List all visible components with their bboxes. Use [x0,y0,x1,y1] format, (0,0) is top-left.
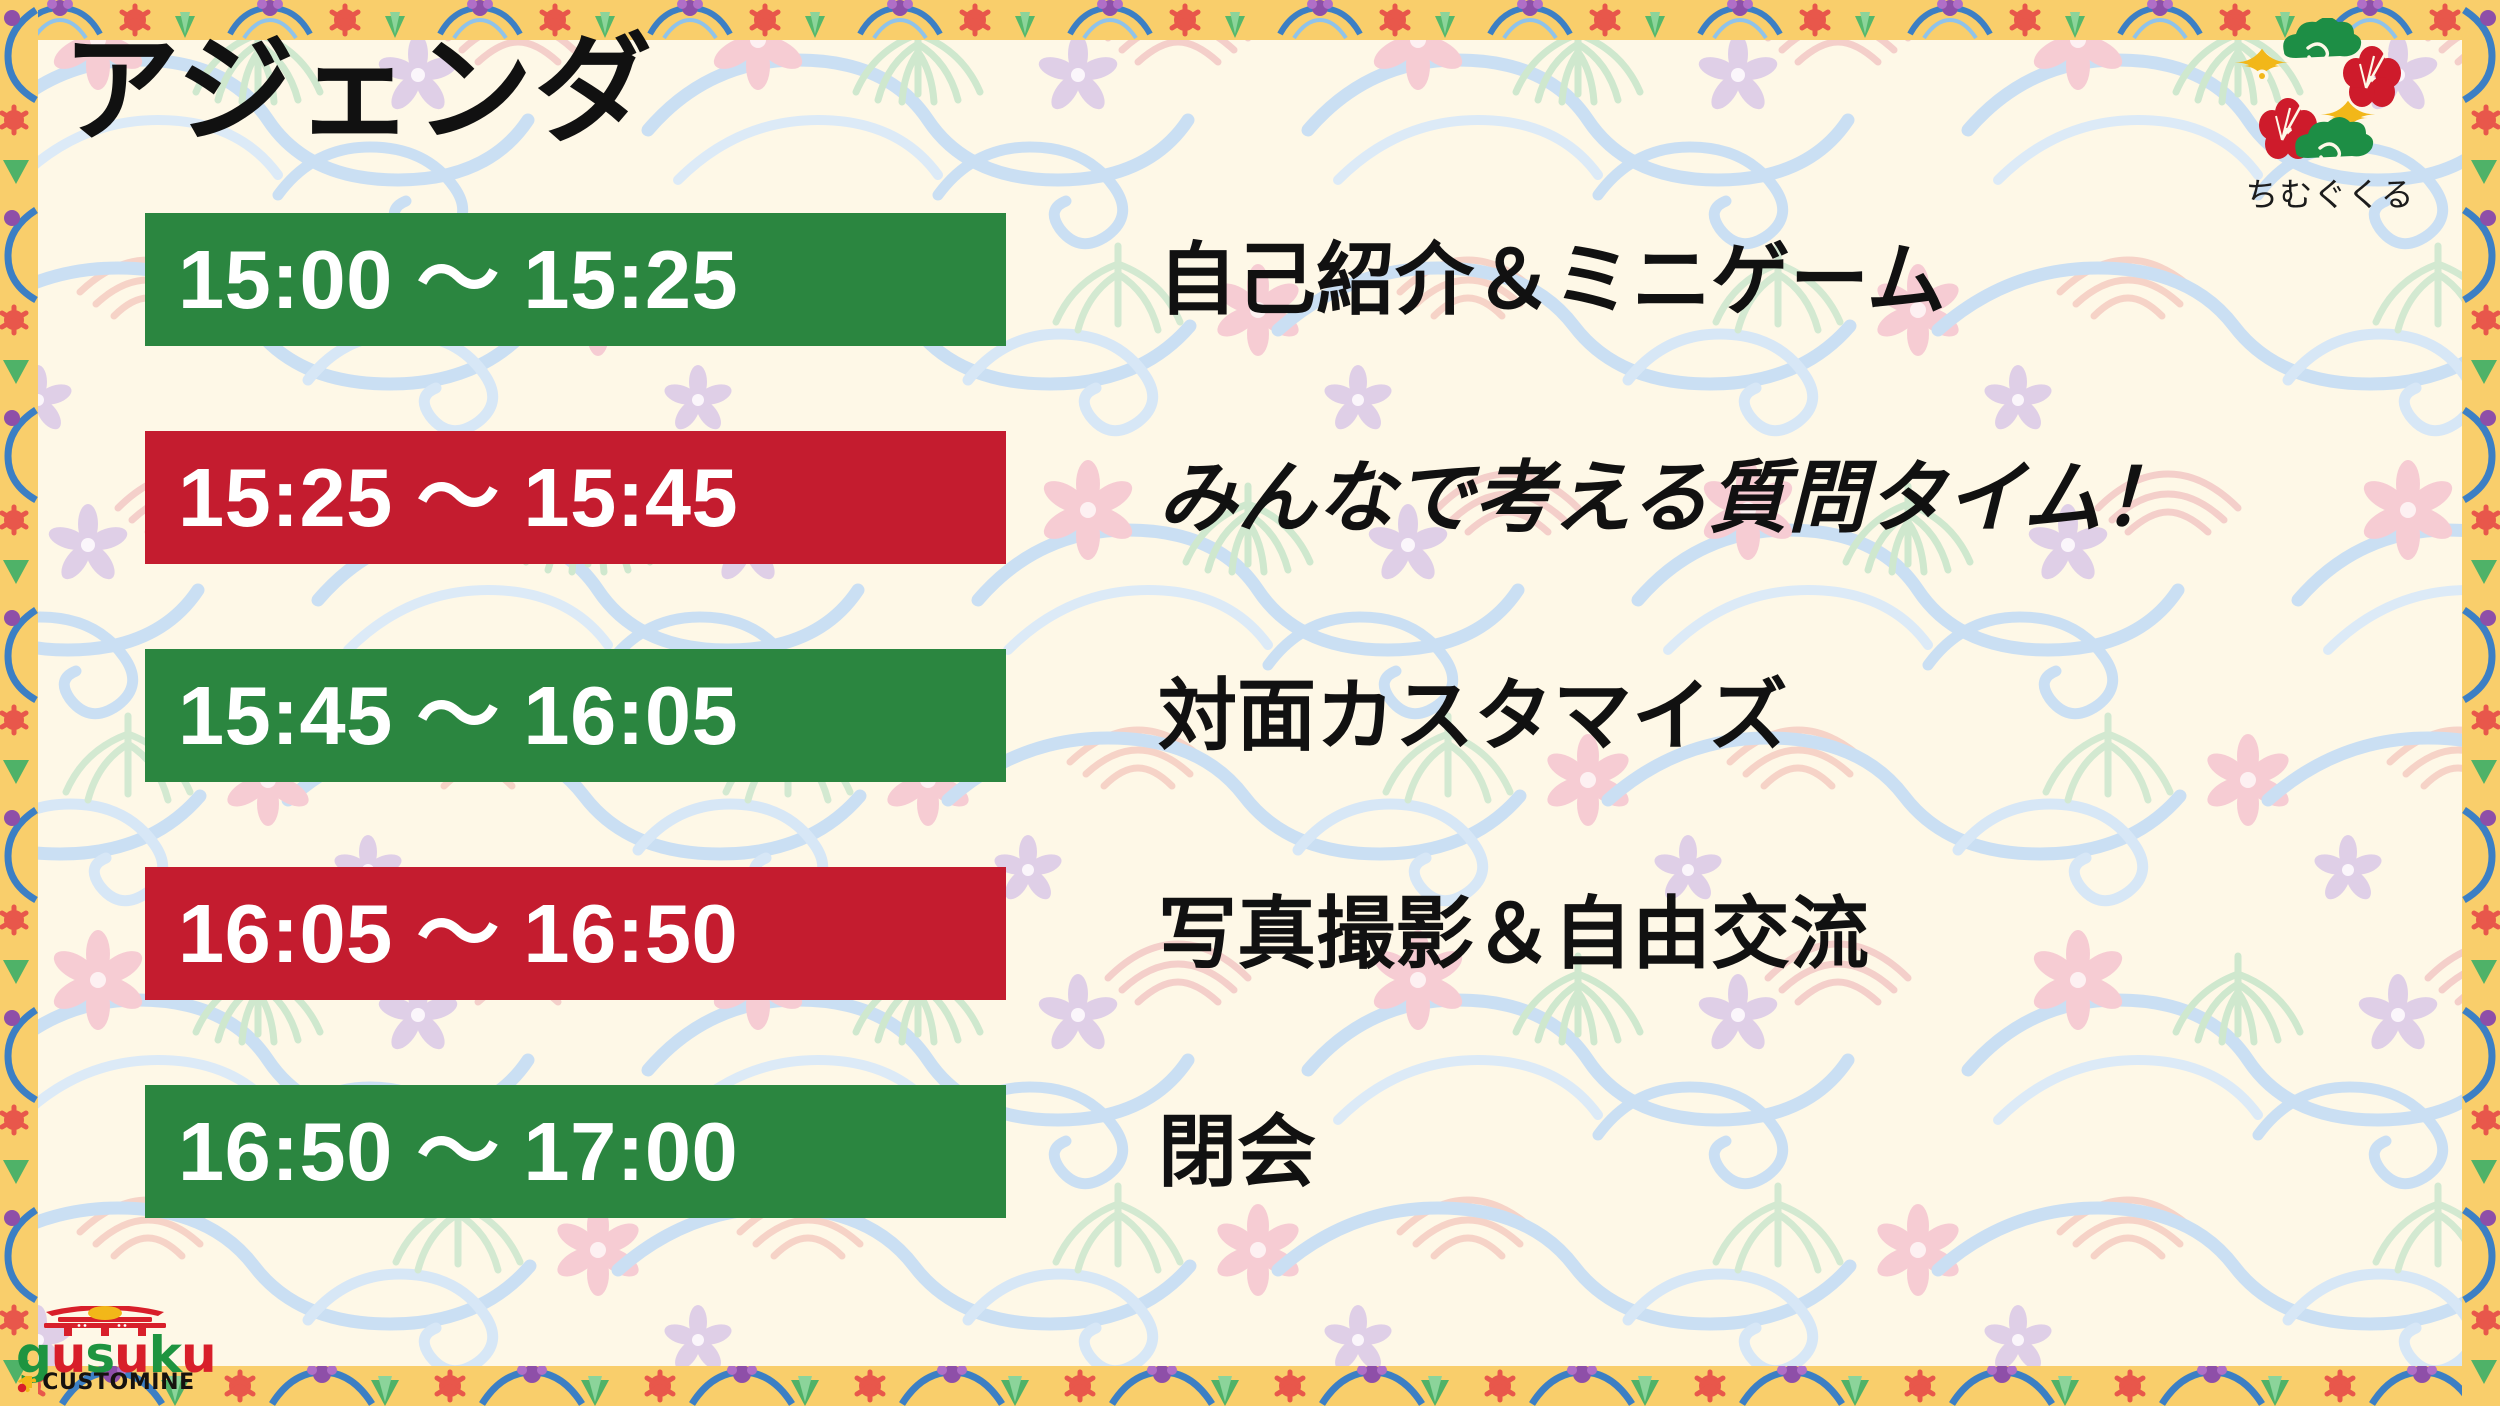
agenda-row: 16:50 ～ 17:00 閉会 [0,1085,2500,1303]
agenda-list: 15:00 ～ 15:25 自己紹介＆ミニゲーム 15:25 ～ 15:45 み… [0,213,2500,1303]
agenda-row: 15:00 ～ 15:25 自己紹介＆ミニゲーム [0,213,2500,431]
green-cloud-icon [2283,18,2361,61]
agenda-slide: アジェンダ 15:00 ～ 15:25 自己紹介＆ミニゲーム 15:25 ～ 1… [0,0,2500,1406]
time-chip: 16:50 ～ 17:00 [145,1085,1006,1218]
agenda-item-description: 自己紹介＆ミニゲーム [1158,213,1946,346]
time-range-label: 16:05 ～ 16:50 [178,892,738,975]
time-range-label: 15:25 ～ 15:45 [178,456,738,539]
agenda-row: 16:05 ～ 16:50 写真撮影＆自由交流 [0,867,2500,1085]
customine-label: CUSTOMINE [42,1372,194,1394]
page-title: アジェンダ [62,22,653,161]
puzzle-piece-icon [17,1373,37,1393]
red-hibiscus-icon [2343,46,2401,107]
agenda-item-description: 対面カスタマイズ [1158,649,1788,782]
gusuku-customine-logo: gusuku CUSTOMINE [16,1306,196,1398]
agenda-item-description: 閉会 [1158,1085,1316,1218]
chimugukuru-logo: ちむぐくる [2232,18,2428,228]
agenda-item-description: 写真撮影＆自由交流 [1158,867,1869,1000]
chimugukuru-wordmark: ちむぐくる [2232,168,2428,216]
agenda-row: 15:25 ～ 15:45 みんなで考える質問タイム！ [0,431,2500,649]
time-range-label: 15:45 ～ 16:05 [178,674,738,757]
time-chip: 15:45 ～ 16:05 [145,649,1006,782]
time-range-label: 15:00 ～ 15:25 [178,238,738,321]
agenda-row: 15:45 ～ 16:05 対面カスタマイズ [0,649,2500,867]
time-chip: 15:25 ～ 15:45 [145,431,1006,564]
slide-content: アジェンダ 15:00 ～ 15:25 自己紹介＆ミニゲーム 15:25 ～ 1… [0,0,2500,1406]
chimugukuru-mark-icon [2232,18,2428,168]
time-range-label: 16:50 ～ 17:00 [178,1110,738,1193]
yellow-flower-icon [2235,49,2290,83]
customine-row: CUSTOMINE [16,1372,196,1394]
time-chip: 16:05 ～ 16:50 [145,867,1006,1000]
agenda-item-description: みんなで考える質問タイム！ [1158,431,2181,564]
time-chip: 15:00 ～ 15:25 [145,213,1006,346]
